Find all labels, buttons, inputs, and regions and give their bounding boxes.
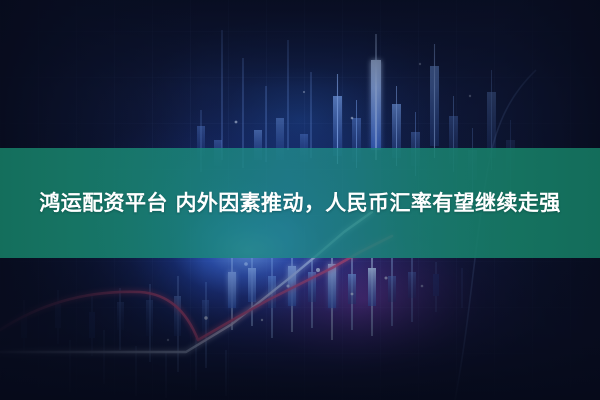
title-band: 鸿运配资平台 内外因素推动，人民币汇率有望继续走强 — [0, 148, 600, 258]
page-title: 鸿运配资平台 内外因素推动，人民币汇率有望继续走强 — [20, 187, 580, 219]
banner-image: 鸿运配资平台 内外因素推动，人民币汇率有望继续走强 — [0, 0, 600, 400]
